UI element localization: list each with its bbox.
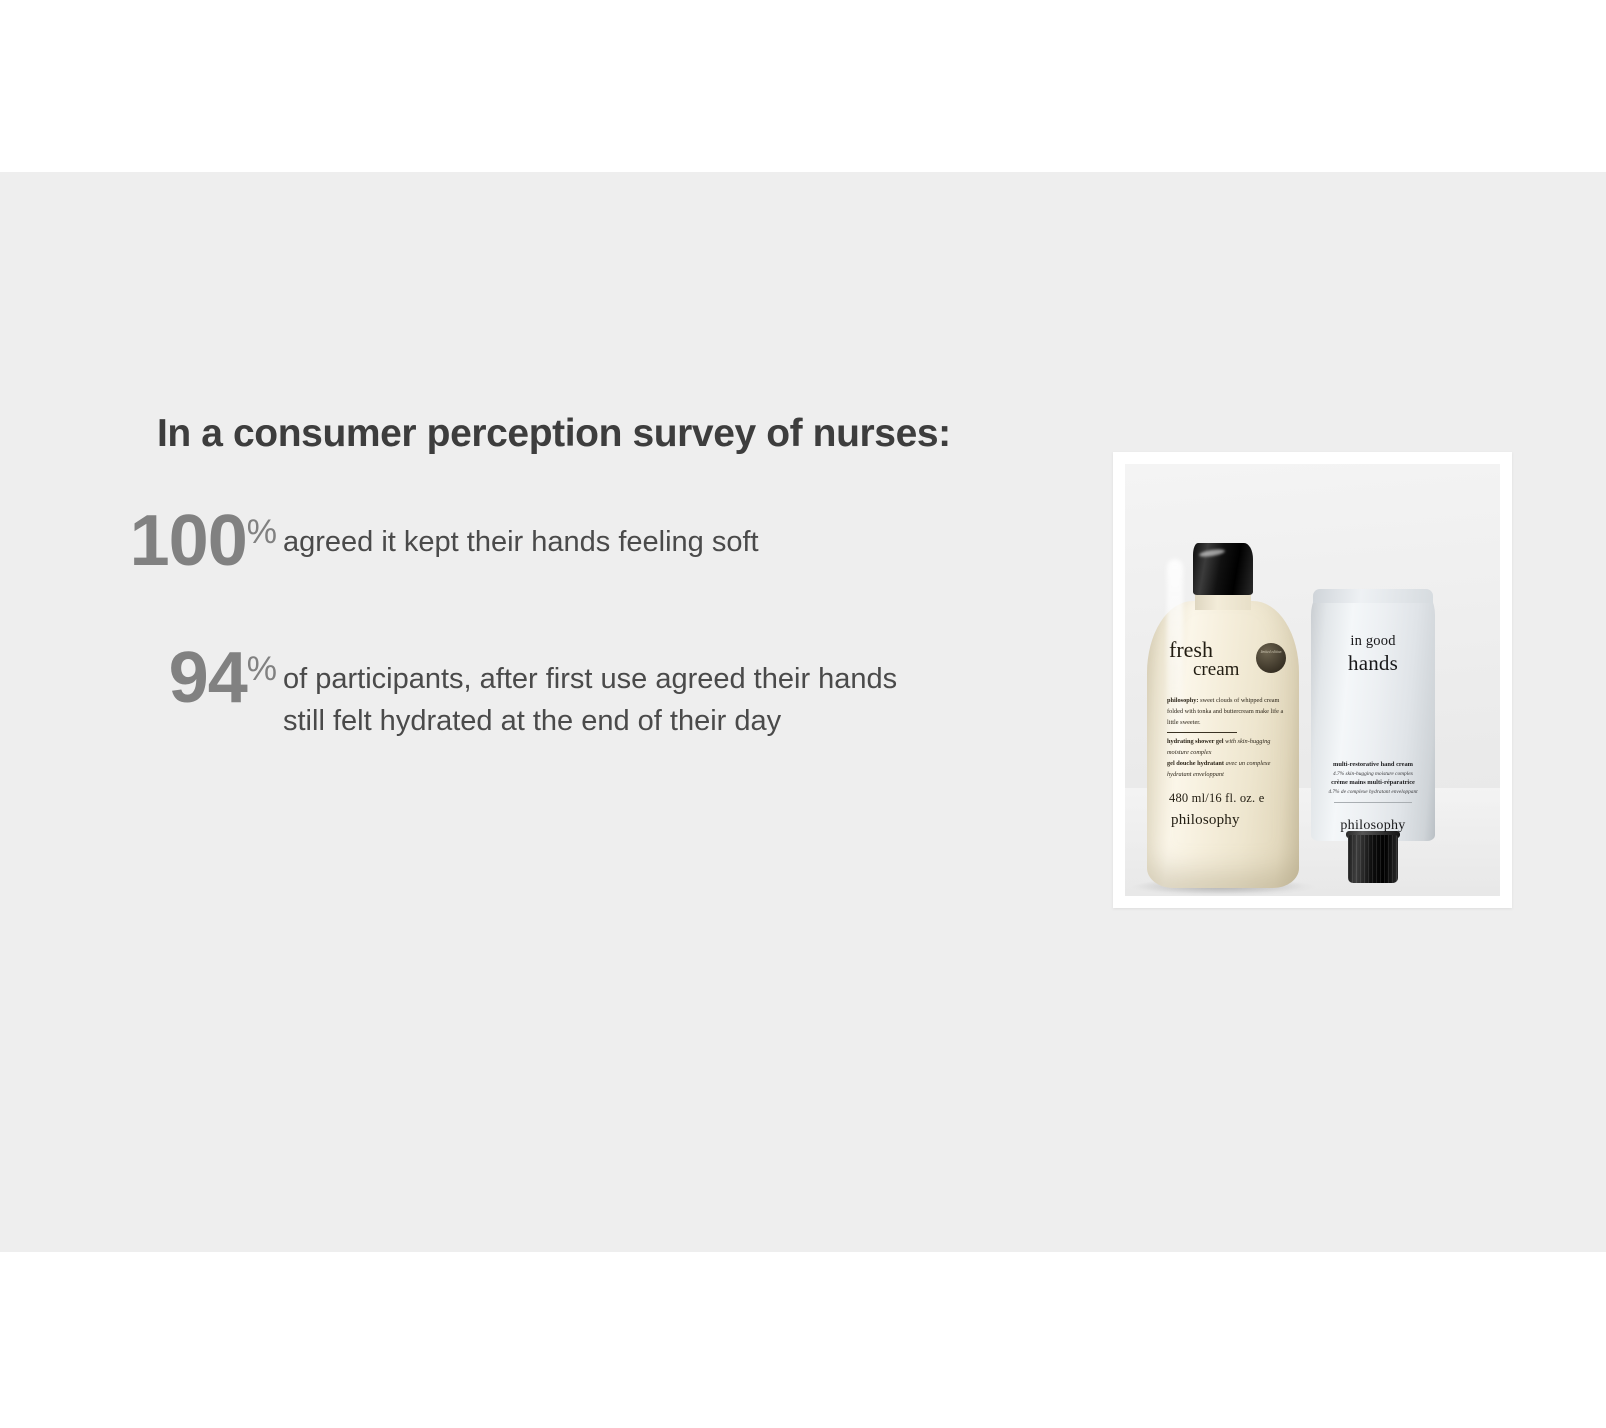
stat-figure: 100% [0,505,277,577]
bottle-label: fresh cream philosophy: sweet clouds of … [1159,639,1287,829]
tube-name-line-2: hands [1311,651,1435,676]
product-image-card: limited edition fresh cream philosophy: … [1113,452,1512,908]
percent-symbol: % [247,513,277,551]
stat-figure: 94% [0,642,277,714]
bottle-usage-en: hydrating shower gel with skin-hugging m… [1159,736,1287,758]
tube-claims: multi-restorative hand cream 4.7% skin-h… [1311,760,1435,797]
product-name-line-1: fresh [1159,639,1287,661]
shower-gel-bottle: limited edition fresh cream philosophy: … [1147,543,1299,888]
product-photo: limited edition fresh cream philosophy: … [1125,464,1500,896]
bottle-cap [1193,543,1253,595]
text-column: In a consumer perception survey of nurse… [0,172,1113,1252]
bottle-description-brand: philosophy: [1167,697,1199,704]
product-name-line-2: cream [1159,660,1287,679]
tube-divider [1334,802,1412,803]
stat-value: 100 [130,501,247,581]
tube-cap [1348,835,1398,883]
usage-fr-bold: gel douche hydratant [1167,760,1226,767]
bottle-description: philosophy: sweet clouds of whipped crea… [1159,695,1287,728]
stat-description-line: agreed it kept their hands feeling soft [283,521,759,563]
page-title: In a consumer perception survey of nurse… [157,412,951,456]
bottle-volume: 480 ml/16 fl. oz. e [1159,791,1287,806]
tube-label: in good hands multi-restorative hand cre… [1311,589,1435,834]
percent-symbol: % [247,650,277,688]
bottle-brand: philosophy [1159,812,1287,829]
bottle-usage-fr: gel douche hydratant avec un complexe hy… [1159,758,1287,780]
tube-claim-en: multi-restorative hand cream [1311,760,1435,770]
stat-row: 94% of participants, after first use agr… [0,642,897,742]
stat-value: 94 [169,638,247,718]
stat-description-line: of participants, after first use agreed … [283,658,897,700]
tube-name-line-1: in good [1311,633,1435,650]
tube-claim-en-sub: 4.7% skin-hugging moisture complex [1311,770,1435,778]
hand-cream-tube: in good hands multi-restorative hand cre… [1311,589,1435,884]
label-divider [1167,732,1237,733]
tube-claim-fr: crème mains multi-réparatrice [1311,778,1435,788]
stat-description-line: still felt hydrated at the end of their … [283,700,897,742]
stat-row: 100% agreed it kept their hands feeling … [0,505,759,577]
usage-en-bold: hydrating shower gel [1167,738,1225,745]
tube-claim-fr-sub: 4.7% de complexe hydratant enveloppant [1311,788,1435,796]
marketing-slide: In a consumer perception survey of nurse… [0,0,1606,1428]
tube-brand: philosophy [1311,818,1435,834]
stat-description: agreed it kept their hands feeling soft [283,505,759,563]
stat-description: of participants, after first use agreed … [283,642,897,742]
